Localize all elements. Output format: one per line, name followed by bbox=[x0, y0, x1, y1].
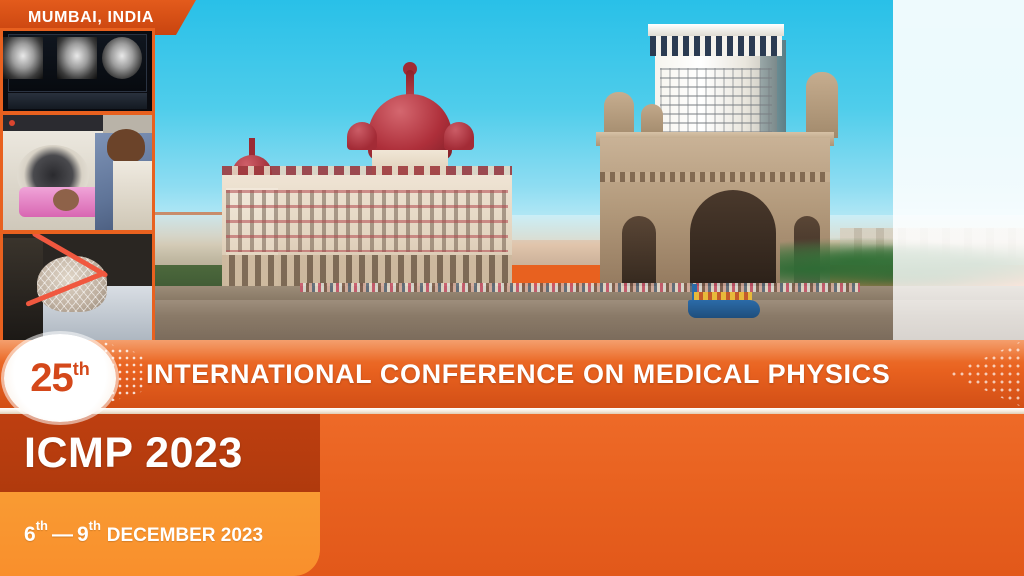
medical-photo-strip bbox=[0, 28, 155, 340]
date-end-suffix: th bbox=[89, 518, 101, 533]
photo-radiotherapy-mask bbox=[3, 234, 152, 340]
mri-slice-coronal bbox=[102, 37, 142, 79]
date-start: 6 bbox=[24, 523, 36, 546]
taj-side-dome-left bbox=[347, 122, 377, 150]
highrise-crown-arches bbox=[650, 34, 782, 56]
edition-number: 25 bbox=[30, 356, 73, 401]
mri-slice-axial bbox=[3, 37, 43, 79]
bottom-info-section: ICMP 2023 6th—9th DECEMBER 2023 23RD ASI… bbox=[0, 414, 1024, 576]
conference-title: INTERNATIONAL CONFERENCE ON MEDICAL PHYS… bbox=[146, 340, 890, 408]
event-dates: 6th—9th DECEMBER 2023 bbox=[0, 521, 263, 547]
conference-poster: MUMBAI, INDIA bbox=[0, 0, 1024, 576]
highrise-roof-cap bbox=[648, 24, 784, 36]
lead-apron bbox=[113, 161, 152, 230]
technologist-hair bbox=[107, 129, 145, 163]
date-dash: — bbox=[48, 523, 77, 546]
event-date-block: 6th—9th DECEMBER 2023 bbox=[0, 492, 320, 576]
event-acronym-block: ICMP 2023 bbox=[0, 414, 320, 492]
gateway-turret-right bbox=[806, 72, 838, 138]
taj-window-rows bbox=[226, 190, 508, 252]
photo-mri-reading-station bbox=[3, 31, 152, 111]
patient-head bbox=[53, 189, 79, 211]
edition-suffix: th bbox=[73, 359, 90, 380]
mri-slice-sagittal bbox=[57, 37, 97, 79]
gateway-side-arch-left bbox=[622, 216, 656, 290]
event-identity-panel: ICMP 2023 6th—9th DECEMBER 2023 bbox=[0, 414, 320, 576]
date-month-year: DECEMBER 2023 bbox=[107, 525, 263, 546]
taj-side-dome-right bbox=[444, 122, 474, 150]
date-start-suffix: th bbox=[36, 518, 48, 533]
location-tag-label: MUMBAI, INDIA bbox=[28, 9, 168, 27]
gateway-dentil-band bbox=[600, 172, 830, 182]
edition-badge: 25th bbox=[4, 334, 116, 422]
gateway-central-arch bbox=[690, 190, 776, 290]
photo-ct-scanner-patient bbox=[3, 115, 152, 230]
society-logo-panel: ASSOCIATION OF MEDICAL PHYSICISTS OF IND… bbox=[893, 0, 1024, 340]
title-banner: INTERNATIONAL CONFERENCE ON MEDICAL PHYS… bbox=[0, 340, 1024, 408]
date-end: 9 bbox=[77, 523, 89, 546]
monitor-toolbar bbox=[8, 93, 147, 109]
crowd-of-visitors bbox=[300, 283, 860, 292]
ct-control-panel bbox=[3, 115, 103, 131]
event-acronym: ICMP 2023 bbox=[0, 429, 243, 478]
ferry-boat bbox=[688, 300, 760, 318]
